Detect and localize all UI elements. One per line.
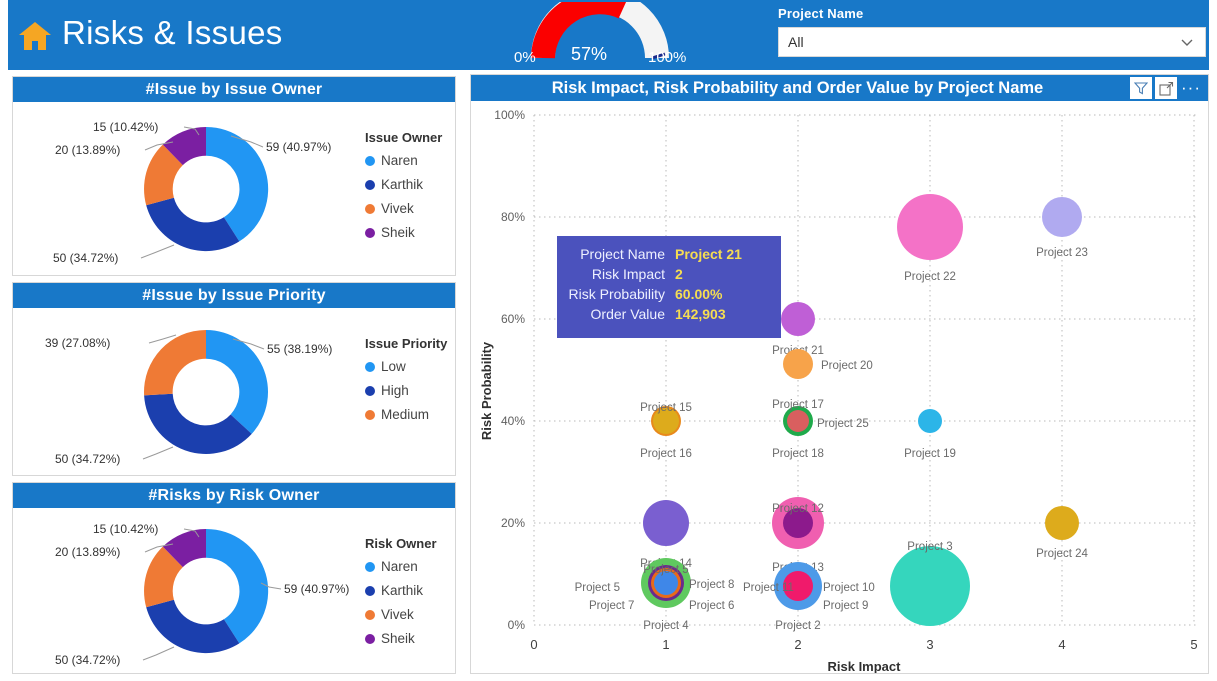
x-tick-2: 2 bbox=[794, 637, 801, 652]
y-tick-20: 20% bbox=[501, 516, 525, 530]
legend-label: Karthik bbox=[381, 583, 423, 598]
donut-chart-issue-priority[interactable]: 55 (38.19%) 50 (34.72%) 39 (27.08%) bbox=[21, 308, 351, 477]
bubble-project-22[interactable] bbox=[897, 194, 963, 260]
legend-issue-priority: Issue Priority Low High Medium bbox=[365, 336, 447, 431]
y-tick-100: 100% bbox=[494, 108, 525, 122]
card-title: #Risks by Risk Owner bbox=[13, 483, 455, 508]
x-tick-3: 3 bbox=[926, 637, 933, 652]
bubble-label: Project 7 bbox=[589, 600, 634, 612]
x-tick-0: 0 bbox=[530, 637, 537, 652]
y-tick-40: 40% bbox=[501, 414, 525, 428]
gauge-value-label: 57% bbox=[571, 44, 607, 65]
bubble-label: Project 6 bbox=[689, 600, 734, 612]
tooltip-row: Risk Impact 2 bbox=[557, 266, 767, 282]
bubble-project-19[interactable] bbox=[918, 409, 942, 433]
x-tick-5: 5 bbox=[1190, 637, 1197, 652]
tooltip-value: 142,903 bbox=[675, 306, 726, 322]
tooltip-key: Order Value bbox=[557, 306, 675, 322]
legend-item[interactable]: Sheik bbox=[365, 631, 437, 646]
completion-gauge[interactable]: 0% 57% 100% bbox=[513, 2, 688, 70]
tooltip-key: Project Name bbox=[557, 246, 675, 262]
x-tick-4: 4 bbox=[1058, 637, 1065, 652]
filter-icon[interactable] bbox=[1130, 77, 1152, 99]
legend-label: Vivek bbox=[381, 201, 414, 216]
scatter-title: Risk Impact, Risk Probability and Order … bbox=[471, 75, 1124, 101]
bubble-label: Project 3 bbox=[907, 541, 952, 553]
legend-swatch bbox=[365, 634, 375, 644]
legend-swatch bbox=[365, 156, 375, 166]
slice-label-medium: 39 (27.08%) bbox=[45, 336, 110, 350]
slice-label-naren: 59 (40.97%) bbox=[266, 140, 331, 154]
bubble-project-23[interactable] bbox=[1042, 197, 1082, 237]
slice-label-naren: 59 (40.97%) bbox=[284, 582, 349, 596]
legend-item[interactable]: Low bbox=[365, 359, 447, 374]
legend-label: Naren bbox=[381, 153, 418, 168]
slice-label-karthik: 50 (34.72%) bbox=[53, 251, 118, 265]
legend-swatch bbox=[365, 204, 375, 214]
legend-title: Issue Owner bbox=[365, 130, 442, 145]
bubble-label: Project 20 bbox=[821, 360, 873, 372]
tooltip-key: Risk Impact bbox=[557, 266, 675, 282]
legend-swatch bbox=[365, 562, 375, 572]
bubble-label: Project 5 bbox=[643, 564, 688, 576]
slice-label-high: 50 (34.72%) bbox=[55, 452, 120, 466]
legend-item[interactable]: Vivek bbox=[365, 201, 442, 216]
bubble-label: Project 9 bbox=[823, 600, 868, 612]
scatter-title-bar: Risk Impact, Risk Probability and Order … bbox=[471, 75, 1208, 101]
legend-swatch bbox=[365, 228, 375, 238]
y-tick-80: 80% bbox=[501, 210, 525, 224]
bubble-project-3[interactable] bbox=[890, 546, 970, 626]
y-axis-title: Risk Probability bbox=[479, 341, 494, 440]
legend-label: Vivek bbox=[381, 607, 414, 622]
gauge-min-label: 0% bbox=[514, 49, 536, 66]
slice-label-sheik: 15 (10.42%) bbox=[93, 522, 158, 536]
legend-item[interactable]: Karthik bbox=[365, 583, 437, 598]
donut-chart-issue-owner[interactable]: 59 (40.97%) 50 (34.72%) 20 (13.89%) 15 (… bbox=[21, 102, 351, 277]
bubble-label: Project 2 bbox=[775, 620, 820, 632]
legend-item[interactable]: Karthik bbox=[365, 177, 442, 192]
legend-title: Risk Owner bbox=[365, 536, 437, 551]
legend-swatch bbox=[365, 610, 375, 620]
legend-swatch bbox=[365, 410, 375, 420]
legend-swatch bbox=[365, 362, 375, 372]
slice-label-low: 55 (38.19%) bbox=[267, 342, 332, 356]
bubble-label: Project 25 bbox=[817, 418, 869, 430]
legend-risk-owner: Risk Owner Naren Karthik Vivek Sheik bbox=[365, 536, 437, 655]
bubble-label: Project 4 bbox=[643, 620, 689, 632]
scatter-svg[interactable]: 100% 80% 60% 40% 20% 0% 0 1 2 3 4 5 Risk… bbox=[471, 101, 1208, 673]
home-icon[interactable] bbox=[18, 20, 52, 52]
legend-label: High bbox=[381, 383, 409, 398]
card-risk-scatter[interactable]: Risk Impact, Risk Probability and Order … bbox=[470, 74, 1209, 674]
y-tick-60: 60% bbox=[501, 312, 525, 326]
bubble-project-20[interactable] bbox=[783, 349, 813, 379]
bubble-label: Project 15 bbox=[640, 402, 692, 414]
card-title: #Issue by Issue Priority bbox=[13, 283, 455, 308]
legend-item[interactable]: Medium bbox=[365, 407, 447, 422]
tooltip-row: Risk Probability 60.00% bbox=[557, 286, 767, 302]
tooltip-value: 2 bbox=[675, 266, 683, 282]
tooltip-row: Project Name Project 21 bbox=[557, 246, 767, 262]
x-tick-1: 1 bbox=[662, 637, 669, 652]
page-title: Risks & Issues bbox=[62, 14, 283, 52]
bubble-label: Project 19 bbox=[904, 448, 956, 460]
card-issue-by-issue-owner[interactable]: #Issue by Issue Owner 59 (40.97%) 50 (34… bbox=[12, 76, 456, 276]
bubble-project-14[interactable] bbox=[643, 500, 689, 546]
slice-label-vivek: 20 (13.89%) bbox=[55, 545, 120, 559]
donut-chart-risk-owner[interactable]: 59 (40.97%) 50 (34.72%) 20 (13.89%) 15 (… bbox=[21, 508, 351, 675]
legend-label: Low bbox=[381, 359, 406, 374]
legend-label: Sheik bbox=[381, 225, 415, 240]
slicer-selected-value: All bbox=[788, 34, 804, 50]
scatter-plot-area[interactable]: 100% 80% 60% 40% 20% 0% 0 1 2 3 4 5 Risk… bbox=[471, 101, 1208, 673]
slice-label-vivek: 20 (13.89%) bbox=[55, 143, 120, 157]
dashboard-root: Risks & Issues 0% 57% 100% Project Name … bbox=[0, 0, 1217, 681]
y-tick-0: 0% bbox=[508, 618, 526, 632]
project-name-slicer[interactable]: Project Name All bbox=[778, 6, 1206, 64]
legend-item[interactable]: Naren bbox=[365, 153, 442, 168]
tooltip-key: Risk Probability bbox=[557, 286, 675, 302]
slicer-dropdown[interactable]: All bbox=[778, 27, 1206, 57]
legend-title: Issue Priority bbox=[365, 336, 447, 351]
bubble-label: Project 8 bbox=[689, 579, 734, 591]
legend-label: Medium bbox=[381, 407, 429, 422]
card-risks-by-risk-owner[interactable]: #Risks by Risk Owner 59 (40.97%) 50 (34.… bbox=[12, 482, 456, 674]
bubble-label: Project 16 bbox=[640, 448, 692, 460]
legend-item[interactable]: Sheik bbox=[365, 225, 442, 240]
bubble-label: Project 22 bbox=[904, 271, 956, 283]
more-options-icon[interactable]: ··· bbox=[1180, 77, 1202, 99]
legend-item[interactable]: Vivek bbox=[365, 607, 437, 622]
card-title: #Issue by Issue Owner bbox=[13, 77, 455, 102]
bubble-label: Project 23 bbox=[1036, 247, 1088, 259]
bubble-label: Project 10 bbox=[823, 582, 875, 594]
bubble-project-24[interactable] bbox=[1045, 506, 1079, 540]
card-issue-by-issue-priority[interactable]: #Issue by Issue Priority 55 (38.19%) 50 … bbox=[12, 282, 456, 476]
scatter-tooltip: Project Name Project 21 Risk Impact 2 Ri… bbox=[557, 236, 781, 338]
legend-swatch bbox=[365, 586, 375, 596]
bubble-label: Project 17 bbox=[772, 399, 824, 411]
bubble-project-21[interactable] bbox=[781, 302, 815, 336]
slice-label-karthik: 50 (34.72%) bbox=[55, 653, 120, 667]
bubble-label: Project 18 bbox=[772, 448, 824, 460]
bubble-label-project-5: Project 5 bbox=[575, 582, 620, 594]
bubble-label: Project 11 bbox=[743, 582, 794, 594]
legend-label: Karthik bbox=[381, 177, 423, 192]
page-header: Risks & Issues 0% 57% 100% Project Name … bbox=[8, 0, 1209, 70]
chevron-down-icon[interactable] bbox=[1179, 34, 1195, 50]
gauge-max-label: 100% bbox=[648, 49, 686, 66]
bubble-label: Project 12 bbox=[772, 503, 824, 515]
legend-label: Naren bbox=[381, 559, 418, 574]
slice-label-sheik: 15 (10.42%) bbox=[93, 120, 158, 134]
tooltip-value: Project 21 bbox=[675, 246, 742, 262]
focus-mode-icon[interactable] bbox=[1155, 77, 1177, 99]
slicer-label: Project Name bbox=[778, 6, 1206, 21]
legend-label: Sheik bbox=[381, 631, 415, 646]
bubble-label: Project 24 bbox=[1036, 548, 1088, 560]
bubble-project-25[interactable] bbox=[787, 410, 809, 432]
legend-item[interactable]: High bbox=[365, 383, 447, 398]
legend-item[interactable]: Naren bbox=[365, 559, 437, 574]
tooltip-value: 60.00% bbox=[675, 286, 722, 302]
legend-swatch bbox=[365, 180, 375, 190]
tooltip-row: Order Value 142,903 bbox=[557, 306, 767, 322]
legend-issue-owner: Issue Owner Naren Karthik Vivek Sheik bbox=[365, 130, 442, 249]
x-axis-title: Risk Impact bbox=[828, 659, 902, 673]
legend-swatch bbox=[365, 386, 375, 396]
